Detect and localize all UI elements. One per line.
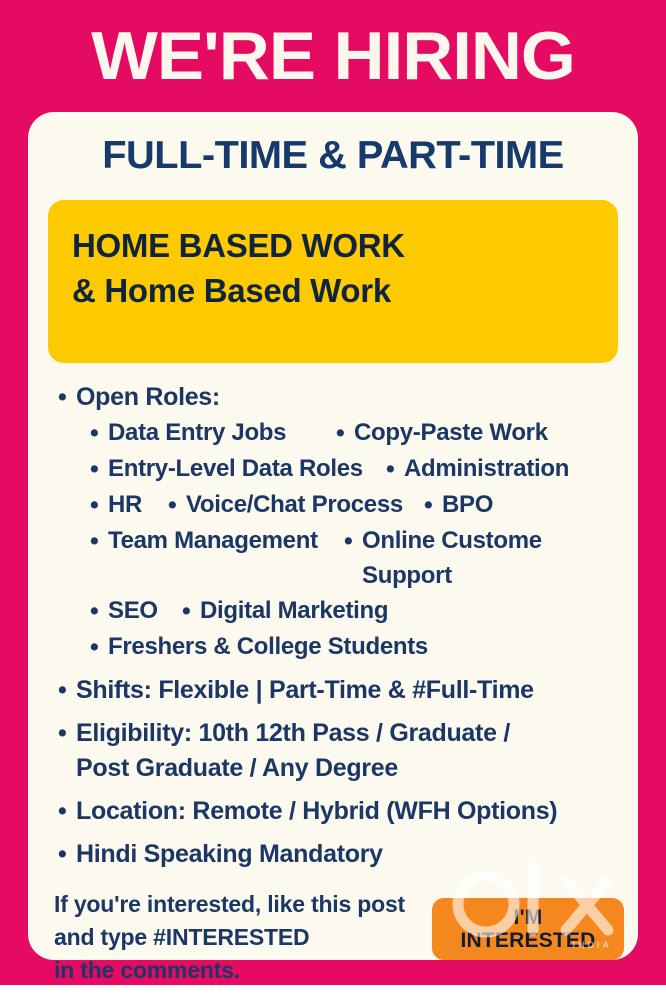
content-card: FULL-TIME & PART-TIME HOME BASED WORK & … xyxy=(28,112,638,960)
cta-instructions: If you're interested, like this post and… xyxy=(54,888,454,987)
subtitle: FULL-TIME & PART-TIME xyxy=(42,130,623,182)
table-row: • Freshers & College Students xyxy=(56,629,618,665)
location-text: Location: Remote / Hybrid (WFH Options) xyxy=(76,793,618,829)
eligibility-text-line-1: Eligibility: 10th 12th Pass / Graduate / xyxy=(76,715,618,751)
bullet-icon: • xyxy=(168,487,186,523)
role-left: Team Management xyxy=(108,523,344,558)
role-left: SEO xyxy=(108,593,182,628)
bullet-icon: • xyxy=(424,487,442,523)
bullet-icon: • xyxy=(90,415,108,451)
open-roles-label: Open Roles: xyxy=(76,379,618,415)
bullet-icon: • xyxy=(90,593,108,629)
cta-line-1: I'M xyxy=(514,906,543,929)
list-item-language: • Hindi Speaking Mandatory xyxy=(56,836,618,872)
table-row: • Data Entry Jobs • Copy-Paste Work xyxy=(56,415,618,451)
footer-section: If you're interested, like this post and… xyxy=(48,888,618,999)
bullet-icon: • xyxy=(58,793,76,829)
bullet-icon: • xyxy=(90,523,108,559)
list-item-eligibility: • Eligibility: 10th 12th Pass / Graduate… xyxy=(56,715,618,751)
cta-line-2: INTERESTED xyxy=(460,929,595,952)
role-right: Administration xyxy=(404,451,618,486)
role-left: HR xyxy=(108,487,168,522)
bullet-icon: • xyxy=(90,487,108,523)
bullet-icon: • xyxy=(344,523,362,559)
bullet-icon: • xyxy=(336,415,354,451)
bullet-icon: • xyxy=(386,451,404,487)
table-row: • SEO • Digital Marketing xyxy=(56,593,618,629)
table-row: • Entry-Level Data Roles • Administratio… xyxy=(56,451,618,487)
role-left: Freshers & College Students xyxy=(108,629,618,664)
bullet-icon: • xyxy=(90,451,108,487)
eligibility-text-line-2: Post Graduate / Any Degree xyxy=(56,751,618,786)
cta-instructions-line-3: in the comments. xyxy=(54,954,454,987)
table-row: • Team Management • Online Custome Suppo… xyxy=(56,523,618,593)
role-mid: Voice/Chat Process xyxy=(186,487,424,522)
details-list: • Open Roles: • Data Entry Jobs • Copy-P… xyxy=(48,379,618,872)
bullet-icon: • xyxy=(58,715,76,751)
bullet-icon: • xyxy=(58,379,76,415)
cta-instructions-line-2: and type #INTERESTED xyxy=(54,921,454,954)
job-type-line-1: HOME BASED WORK xyxy=(72,224,594,268)
job-type-panel: HOME BASED WORK & Home Based Work xyxy=(48,200,618,363)
shifts-text: Shifts: Flexible | Part-Time & #Full-Tim… xyxy=(76,672,618,708)
bullet-icon: • xyxy=(58,836,76,872)
page-title: WE'RE HIRING xyxy=(0,14,666,98)
im-interested-button[interactable]: I'M INTERESTED xyxy=(432,898,624,960)
language-text: Hindi Speaking Mandatory xyxy=(76,836,618,872)
bullet-icon: • xyxy=(182,593,200,629)
list-item-shifts: • Shifts: Flexible | Part-Time & #Full-T… xyxy=(56,672,618,708)
role-right: Online Custome Support xyxy=(362,523,618,593)
list-item-location: • Location: Remote / Hybrid (WFH Options… xyxy=(56,793,618,829)
role-right: Digital Marketing xyxy=(200,593,618,628)
bottom-strip xyxy=(0,985,666,999)
role-left: Entry-Level Data Roles xyxy=(108,451,386,486)
table-row: • HR • Voice/Chat Process • BPO xyxy=(56,487,618,523)
job-type-line-2: & Home Based Work xyxy=(72,268,594,314)
role-right: BPO xyxy=(442,487,618,522)
cta-instructions-line-1: If you're interested, like this post xyxy=(54,888,454,921)
hiring-poster: WE'RE HIRING FULL-TIME & PART-TIME HOME … xyxy=(0,0,666,999)
bullet-icon: • xyxy=(58,672,76,708)
bullet-icon: • xyxy=(90,629,108,665)
list-item: • Open Roles: xyxy=(56,379,618,415)
role-left: Data Entry Jobs xyxy=(108,415,336,450)
role-right: Copy-Paste Work xyxy=(354,415,618,450)
